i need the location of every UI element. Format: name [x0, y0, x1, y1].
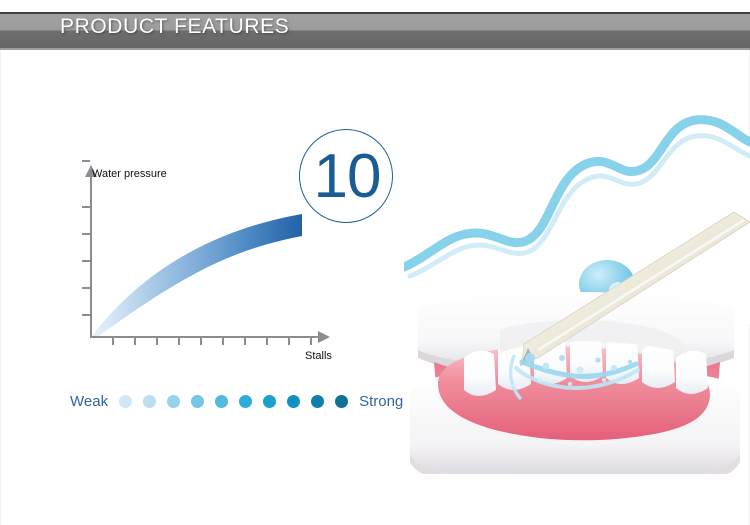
scale-dot-2	[143, 395, 156, 408]
x-axis-tick	[288, 338, 290, 345]
pressure-strength-scale: Weak Strong	[70, 393, 403, 410]
x-axis-tick	[112, 338, 114, 345]
scale-weak-label: Weak	[70, 393, 108, 410]
dental-model-illustration	[404, 62, 750, 474]
x-axis-tick	[178, 338, 180, 345]
chart-curve	[90, 170, 330, 340]
x-axis-tick	[244, 338, 246, 345]
scale-dot-10	[335, 395, 348, 408]
x-axis-tick	[310, 338, 312, 345]
pressure-levels-badge: 10	[299, 129, 393, 223]
product-features-page: PRODUCT FEATURES	[0, 0, 750, 525]
scale-dots	[119, 395, 348, 408]
scale-dot-8	[287, 395, 300, 408]
x-axis-label: Stalls	[305, 350, 332, 362]
scale-dot-1	[119, 395, 132, 408]
y-axis-tick	[82, 314, 90, 316]
scale-dot-4	[191, 395, 204, 408]
x-axis-tick	[156, 338, 158, 345]
pressure-levels-value: 10	[300, 130, 394, 224]
x-axis-tick	[266, 338, 268, 345]
x-axis-tick	[222, 338, 224, 345]
scale-dot-7	[263, 395, 276, 408]
y-axis-tick	[82, 260, 90, 262]
dental-model-svg	[404, 62, 750, 474]
y-axis-line	[90, 176, 92, 338]
y-axis-tick	[82, 160, 90, 162]
x-axis-line	[90, 336, 320, 338]
pressure-band-path	[92, 214, 302, 338]
frame-left-edge	[0, 50, 1, 525]
y-axis-label: Water pressure	[92, 168, 167, 180]
scale-dot-6	[239, 395, 252, 408]
y-axis-tick	[82, 206, 90, 208]
scale-dot-9	[311, 395, 324, 408]
y-axis-tick	[82, 233, 90, 235]
page-title: PRODUCT FEATURES	[60, 15, 289, 39]
scale-dot-5	[215, 395, 228, 408]
scale-strong-label: Strong	[359, 393, 403, 410]
scale-dot-3	[167, 395, 180, 408]
y-axis-tick	[82, 287, 90, 289]
chart-curve-svg	[90, 170, 330, 340]
x-axis-tick	[200, 338, 202, 345]
x-axis-tick	[134, 338, 136, 345]
x-axis-arrow-icon	[318, 331, 330, 343]
